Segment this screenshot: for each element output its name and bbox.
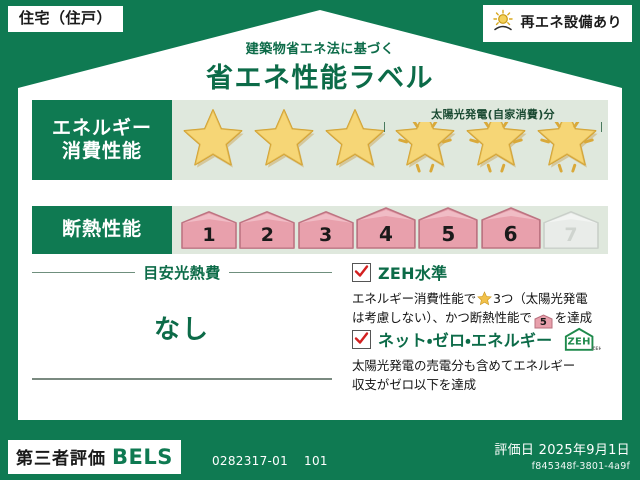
star-icon-solar	[392, 107, 458, 173]
inline-grade-chip-value: 5	[540, 317, 547, 328]
insulation-grade-value: 3	[319, 224, 332, 246]
insulation-grade-chip-6: 6	[480, 206, 542, 250]
net-zero-energy-block: ネット・ゼロ・エネルギー ZEH ZEH 太陽光発電の売電分も含めてエネルギー …	[352, 327, 614, 394]
zeh-standard-title: ZEH水準	[378, 260, 447, 284]
insulation-grade-value: 4	[379, 222, 393, 246]
energy-performance-row: エネルギー 消費性能	[32, 100, 608, 180]
dwelling-type-badge: 住宅（住戸）	[8, 6, 123, 32]
energy-performance-row-label: エネルギー 消費性能	[32, 100, 172, 180]
insulation-label: 断熱性能	[62, 218, 142, 241]
zeh-house-logo-icon: ZEH ZEH	[563, 327, 601, 351]
insulation-grade-value: 1	[202, 224, 215, 246]
star-icon-solar	[463, 107, 529, 173]
star-icon	[180, 107, 246, 173]
zeh-standard-description: エネルギー消費性能で3つ（太陽光発電 は考慮しない）、かつ断熱性能で5を達成	[352, 289, 614, 329]
zeh-standard-title-row: ZEH水準	[352, 260, 614, 284]
certificate-number: 0282317-01	[212, 454, 288, 468]
heading-rule-right	[229, 272, 332, 273]
zeh-desc-star-count: 3つ（太陽光発電	[493, 291, 588, 306]
bels-badge: 第三者評価 BELS	[8, 440, 181, 474]
star-icon	[322, 107, 388, 173]
star-icon-solar	[534, 107, 600, 173]
inline-star-icon	[477, 291, 492, 306]
estimated-utility-cost-value: なし	[32, 309, 332, 346]
zeh-desc-part-a: エネルギー消費性能で	[352, 291, 476, 306]
zeh-desc-part-b: は考慮しない）、かつ断熱性能で	[352, 310, 532, 325]
evaluation-info: 評価日 2025年9月1日 f845348f-3801-4a9f	[494, 439, 630, 472]
renewable-equipment-badge: 再エネ設備あり	[483, 5, 633, 42]
energy-stars-panel	[172, 100, 608, 180]
label-title: 省エネ性能ラベル	[0, 56, 640, 95]
insulation-grade-value: 5	[441, 222, 455, 246]
solar-sun-icon	[491, 9, 515, 37]
svg-text:ZEH: ZEH	[592, 346, 601, 352]
insulation-grades-panel: 1234567	[172, 206, 608, 254]
net-zero-title-row: ネット・ゼロ・エネルギー ZEH ZEH	[352, 327, 614, 351]
insulation-grade-chip-7: 7	[542, 210, 600, 250]
energy-label-line1: エネルギー	[52, 117, 152, 140]
evaluation-date: 評価日 2025年9月1日	[494, 439, 630, 458]
net-zero-description: 太陽光発電の売電分も含めてエネルギー 収支がゼロ以下を達成	[352, 356, 614, 394]
insulation-grade-chip-5: 5	[417, 206, 479, 250]
net-zero-checkbox[interactable]	[352, 330, 371, 349]
net-zero-desc-b: 収支がゼロ以下を達成	[352, 377, 476, 392]
insulation-grade-chip-1: 1	[180, 210, 238, 250]
zeh-standard-checkbox[interactable]	[352, 263, 371, 282]
estimated-utility-cost-block: 目安光熱費 なし	[32, 262, 332, 380]
energy-performance-label: 住宅（住戸） 再エネ設備あり 建築物省エネ法に基づく 省エネ性能ラベル	[0, 0, 640, 480]
certificate-suffix: 101	[304, 454, 328, 468]
zeh-desc-part-c: を達成	[555, 310, 592, 325]
insulation-grade-value: 7	[564, 224, 577, 246]
net-zero-title: ネット・ゼロ・エネルギー	[378, 327, 552, 351]
insulation-grade-chip-2: 2	[238, 210, 296, 250]
insulation-grade-chip-3: 3	[297, 210, 355, 250]
insulation-grade-value: 6	[504, 222, 518, 246]
insulation-grade-value: 2	[261, 224, 274, 246]
renewable-equipment-label: 再エネ設備あり	[521, 16, 623, 30]
cost-divider	[32, 378, 332, 380]
heading-rule-left	[32, 272, 135, 273]
dwelling-type-label: 住宅（住戸）	[19, 9, 112, 27]
insulation-performance-row: 断熱性能 1234567	[32, 206, 608, 254]
star-icon	[251, 107, 317, 173]
estimated-utility-cost-label: 目安光熱費	[143, 262, 221, 283]
zeh-standard-block: ZEH水準 エネルギー消費性能で3つ（太陽光発電 は考慮しない）、かつ断熱性能で…	[352, 260, 614, 329]
bels-en-label: BELS	[112, 445, 173, 469]
estimated-utility-cost-heading: 目安光熱費	[32, 262, 332, 283]
bels-jp-label: 第三者評価	[16, 444, 106, 469]
evaluation-uid: f845348f-3801-4a9f	[494, 461, 630, 472]
net-zero-desc-a: 太陽光発電の売電分も含めてエネルギー	[352, 358, 575, 373]
insulation-grade-chip-4: 4	[355, 206, 417, 250]
svg-text:ZEH: ZEH	[568, 337, 591, 348]
energy-label-line2: 消費性能	[62, 140, 142, 163]
insulation-performance-row-label: 断熱性能	[32, 206, 172, 254]
certificate-number-group: 0282317-01 101	[212, 454, 328, 468]
